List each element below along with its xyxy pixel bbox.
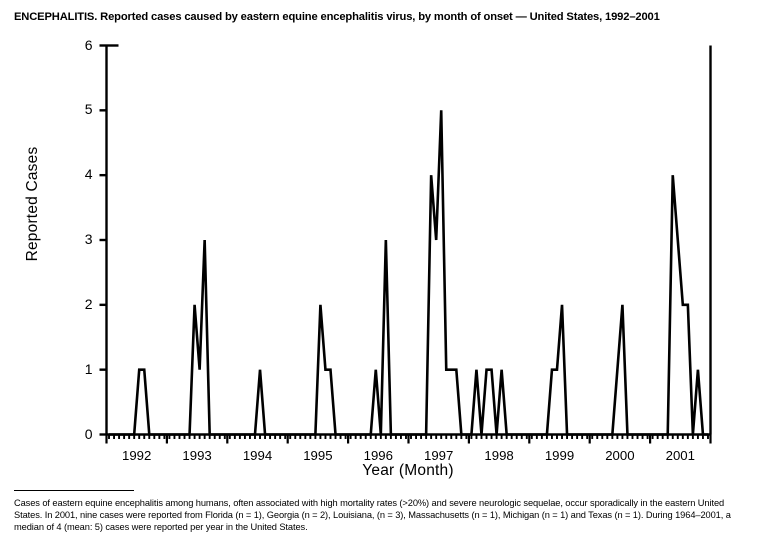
y-tick-label: 1 (67, 361, 93, 377)
y-tick-label: 5 (67, 101, 93, 117)
x-axis-title: Year (Month) (106, 462, 710, 480)
chart-plot-area: Reported Cases Year (Month) 0123456 1992… (0, 0, 760, 490)
y-tick-label: 2 (67, 296, 93, 312)
x-tick-label: 1998 (469, 448, 529, 463)
figure: ENCEPHALITIS. Reported cases caused by e… (0, 0, 760, 544)
x-tick-label: 1996 (348, 448, 408, 463)
data-series-line (109, 110, 708, 434)
x-tick-label: 1994 (228, 448, 288, 463)
footnote-text: Cases of eastern equine encephalitis amo… (14, 497, 750, 534)
x-tick-label: 1992 (107, 448, 167, 463)
x-tick-label: 2000 (590, 448, 650, 463)
x-tick-label: 2001 (650, 448, 710, 463)
y-tick-label: 0 (67, 426, 93, 442)
axis-frame (107, 46, 711, 435)
x-tick-label: 1997 (409, 448, 469, 463)
footnote-divider (14, 490, 134, 491)
y-axis-title: Reported Cases (24, 119, 42, 289)
y-tick-label: 6 (67, 37, 93, 53)
chart-svg (0, 0, 760, 490)
x-tick-label: 1999 (530, 448, 590, 463)
x-tick-label: 1993 (167, 448, 227, 463)
y-tick-label: 4 (67, 166, 93, 182)
x-axis-ticks (107, 435, 711, 444)
x-tick-label: 1995 (288, 448, 348, 463)
y-tick-label: 3 (67, 231, 93, 247)
